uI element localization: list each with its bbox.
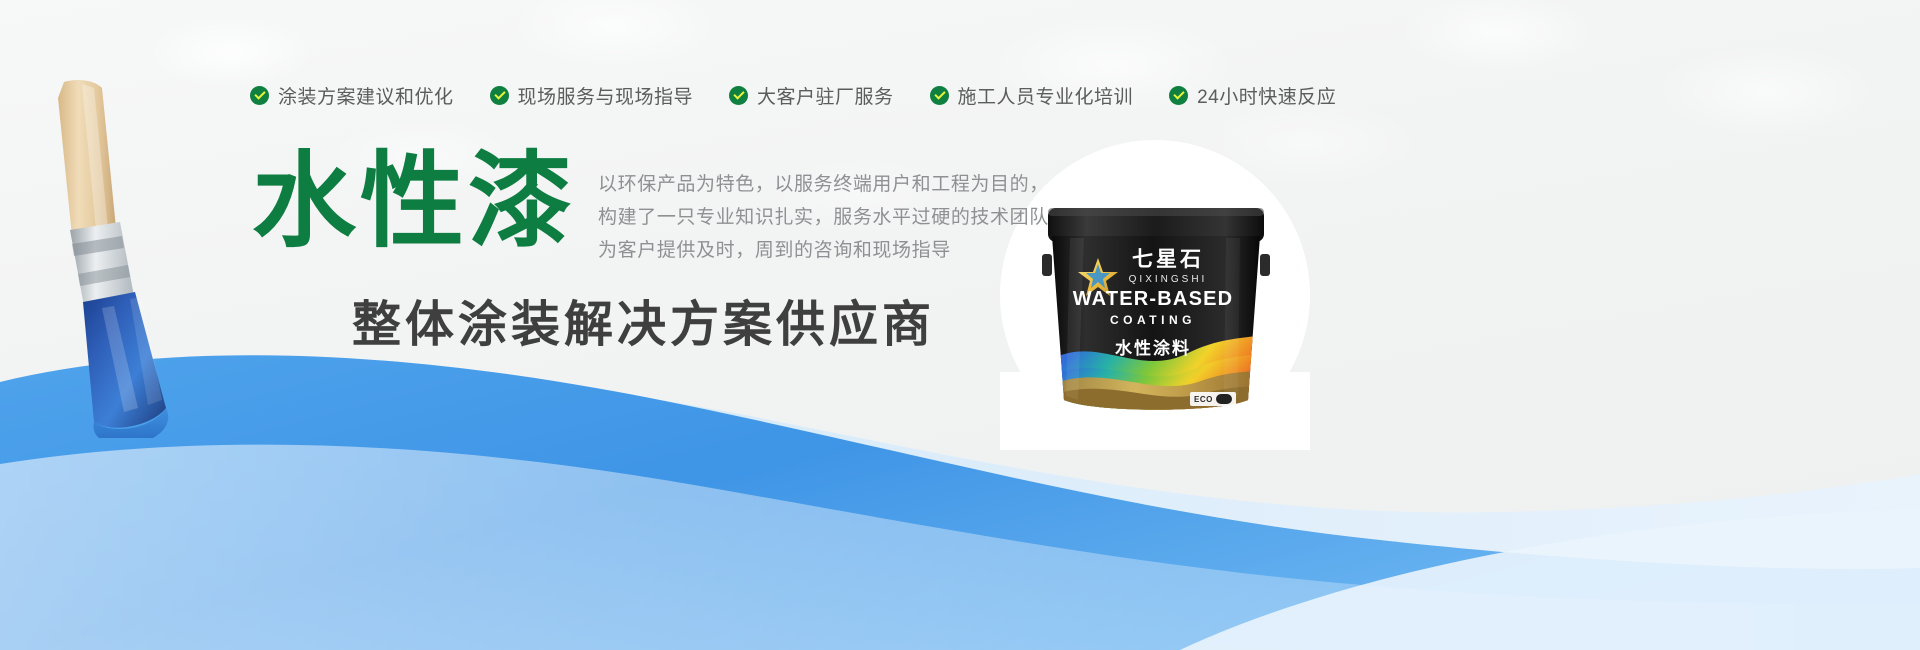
feature-label: 涂装方案建议和优化 [278,82,454,109]
brand-name-cn: 七星石 [1088,243,1248,273]
check-circle-icon [930,86,949,105]
product-name-en-1: WATER-BASED [1058,288,1248,311]
feature-label: 大客户驻厂服务 [757,82,894,109]
check-circle-icon [490,86,509,105]
description-line-3: 为客户提供及时，周到的咨询和现场指导 [598,234,1068,267]
blue-wave-decoration [0,250,1920,650]
product-name-en-2: COATING [1058,313,1248,327]
page-title: 水性漆 [252,148,576,257]
check-circle-icon [729,86,748,105]
eco-label: ECO [1194,395,1213,404]
product-name-cn: 水性涂料 [1058,334,1248,359]
check-circle-icon [250,86,269,105]
feature-label: 24小时快速反应 [1197,82,1336,109]
paint-brush-icon [42,78,232,438]
eco-badge: ECO [1190,392,1236,406]
feature-item[interactable]: 大客户驻厂服务 [729,82,894,109]
feature-item[interactable]: 24小时快速反应 [1169,82,1336,109]
description-line-2: 构建了一只专业知识扎实，服务水平过硬的技术团队， [598,201,1068,234]
headline-block: 水性漆 以环保产品为特色，以服务终端用户和工程为目的， 构建了一只专业知识扎实，… [252,148,1068,267]
brand-name-en: QIXINGSHI [1088,274,1248,285]
feature-label: 现场服务与现场指导 [518,82,694,109]
check-circle-icon [1169,86,1188,105]
eco-dot-icon [1216,394,1232,404]
feature-item[interactable]: 现场服务与现场指导 [490,82,694,109]
subtitle: 整体涂装解决方案供应商 [352,285,935,356]
hero-banner: 涂装方案建议和优化 现场服务与现场指导 大客户驻厂服务 施工人员专业化培训 24… [0,0,1920,650]
feature-label: 施工人员专业化培训 [958,82,1134,109]
feature-list: 涂装方案建议和优化 现场服务与现场指导 大客户驻厂服务 施工人员专业化培训 24… [250,82,1336,109]
feature-item[interactable]: 涂装方案建议和优化 [250,82,454,109]
product-brand-block: 七星石 QIXINGSHI [1058,243,1248,285]
feature-item[interactable]: 施工人员专业化培训 [930,82,1134,109]
description-paragraph: 以环保产品为特色，以服务终端用户和工程为目的， 构建了一只专业知识扎实，服务水平… [598,168,1068,267]
description-line-1: 以环保产品为特色，以服务终端用户和工程为目的， [598,168,1068,201]
product-name-block: WATER-BASED COATING 水性涂料 [1058,288,1248,359]
